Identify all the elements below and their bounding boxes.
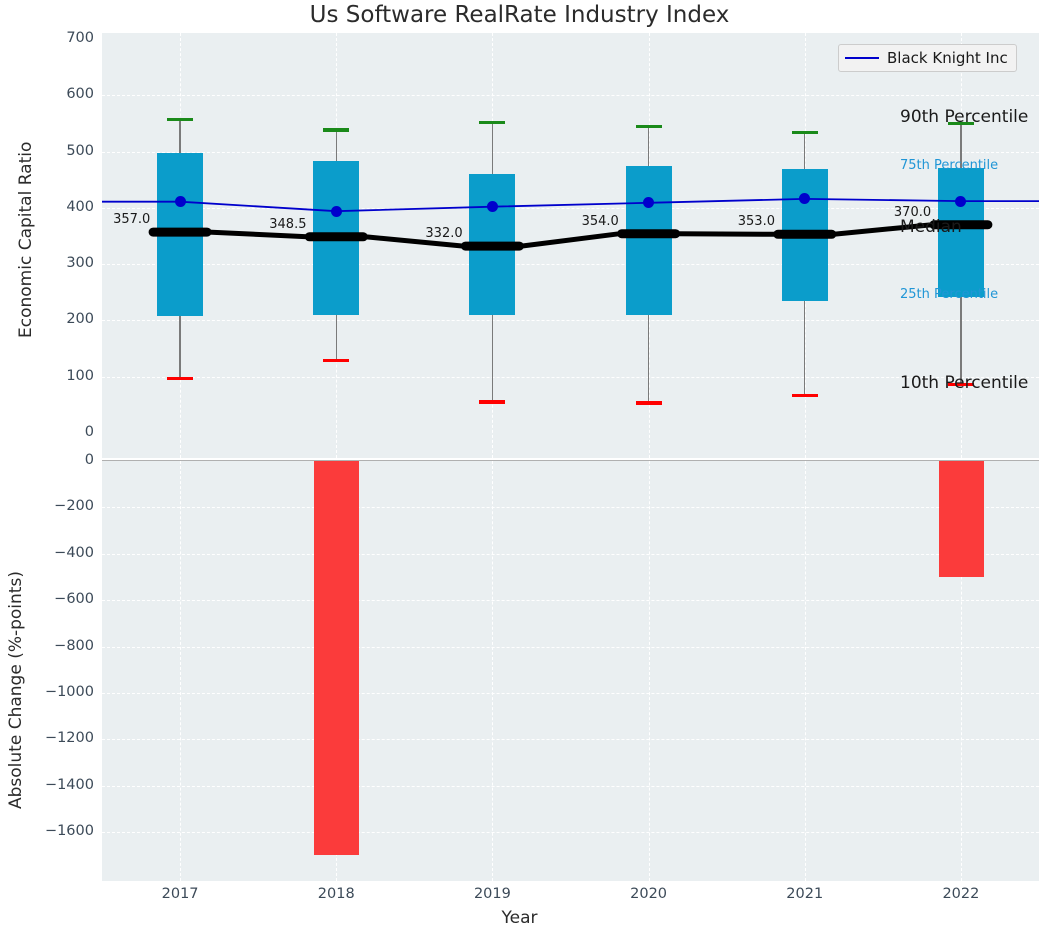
p10-cap bbox=[636, 401, 662, 404]
x-tick-label: 2022 bbox=[921, 886, 1001, 902]
median-value-label: 348.5 bbox=[269, 217, 306, 232]
gridline-vertical bbox=[805, 461, 806, 881]
gridline-horizontal bbox=[102, 832, 1039, 833]
median-value-label: 332.0 bbox=[425, 226, 462, 241]
p10-cap bbox=[323, 359, 349, 362]
chart-root: Us Software RealRate Industry Index Econ… bbox=[0, 0, 1039, 942]
p10-cap bbox=[792, 394, 818, 397]
gridline-horizontal bbox=[102, 647, 1039, 648]
x-tick-label: 2019 bbox=[452, 886, 532, 902]
y-tick-label: −1400 bbox=[8, 777, 94, 793]
p90-cap bbox=[636, 125, 662, 128]
gridline-vertical bbox=[180, 461, 181, 881]
x-tick-label: 2017 bbox=[140, 886, 220, 902]
y-tick-label: −600 bbox=[8, 591, 94, 607]
change-bar bbox=[939, 461, 984, 577]
y-tick-label: 300 bbox=[8, 255, 94, 271]
median-value-label: 357.0 bbox=[113, 212, 150, 227]
gridline-horizontal bbox=[102, 264, 1039, 265]
box-iqr bbox=[626, 166, 672, 316]
black-knight-marker bbox=[175, 196, 186, 207]
y-tick-label: −1000 bbox=[8, 684, 94, 700]
box-iqr bbox=[469, 174, 515, 315]
change-bar bbox=[314, 461, 359, 855]
y-tick-label: 500 bbox=[8, 143, 94, 159]
p10-cap bbox=[479, 400, 505, 403]
gridline-horizontal bbox=[102, 786, 1039, 787]
annotation-median: Median bbox=[900, 217, 962, 237]
legend: Black Knight Inc bbox=[838, 44, 1017, 72]
gridline-vertical bbox=[492, 461, 493, 881]
box-iqr bbox=[313, 161, 359, 316]
y-tick-label: 0 bbox=[8, 452, 94, 468]
y-axis-label-top: Economic Capital Ratio bbox=[16, 60, 36, 420]
gridline-horizontal bbox=[102, 554, 1039, 555]
median-value-label: 354.0 bbox=[582, 214, 619, 229]
gridline-vertical bbox=[649, 461, 650, 881]
y-tick-label: 600 bbox=[8, 86, 94, 102]
legend-line-swatch bbox=[845, 57, 879, 59]
gridline-horizontal bbox=[102, 320, 1039, 321]
gridline-horizontal bbox=[102, 693, 1039, 694]
boxplot-panel bbox=[102, 33, 1039, 458]
y-tick-label: 700 bbox=[8, 30, 94, 46]
y-tick-label: 200 bbox=[8, 311, 94, 327]
black-knight-marker bbox=[955, 196, 966, 207]
y-tick-label: 0 bbox=[8, 424, 94, 440]
y-tick-label: 400 bbox=[8, 199, 94, 215]
y-tick-label: 100 bbox=[8, 368, 94, 384]
p90-cap bbox=[167, 118, 193, 121]
median-value-label: 353.0 bbox=[738, 214, 775, 229]
y-tick-label: −200 bbox=[8, 498, 94, 514]
y-tick-label: −800 bbox=[8, 638, 94, 654]
black-knight-marker bbox=[331, 206, 342, 217]
legend-label: Black Knight Inc bbox=[887, 49, 1008, 67]
annotation-p25: 25th Percentile bbox=[900, 287, 998, 302]
box-iqr bbox=[782, 169, 828, 301]
gridline-horizontal bbox=[102, 377, 1039, 378]
x-axis-label: Year bbox=[0, 908, 1039, 928]
x-tick-label: 2020 bbox=[609, 886, 689, 902]
annotation-p10: 10th Percentile bbox=[900, 373, 1028, 393]
page-title: Us Software RealRate Industry Index bbox=[0, 2, 1039, 28]
annotation-p90: 90th Percentile bbox=[900, 107, 1028, 127]
gridline-horizontal bbox=[102, 507, 1039, 508]
y-tick-label: −1600 bbox=[8, 823, 94, 839]
gridline-horizontal bbox=[102, 739, 1039, 740]
x-tick-label: 2021 bbox=[765, 886, 845, 902]
y-tick-label: −1200 bbox=[8, 730, 94, 746]
x-tick-label: 2018 bbox=[296, 886, 376, 902]
y-tick-label: −400 bbox=[8, 545, 94, 561]
p90-cap bbox=[323, 128, 349, 131]
gridline-horizontal bbox=[102, 600, 1039, 601]
p90-cap bbox=[479, 121, 505, 124]
p90-cap bbox=[792, 131, 818, 134]
annotation-p75: 75th Percentile bbox=[900, 158, 998, 173]
gridline-horizontal bbox=[102, 95, 1039, 96]
change-bar-panel bbox=[102, 461, 1039, 881]
box-iqr bbox=[157, 153, 203, 316]
gridline-horizontal bbox=[102, 152, 1039, 153]
p10-cap bbox=[167, 377, 193, 380]
zero-axis-line bbox=[102, 460, 1039, 461]
